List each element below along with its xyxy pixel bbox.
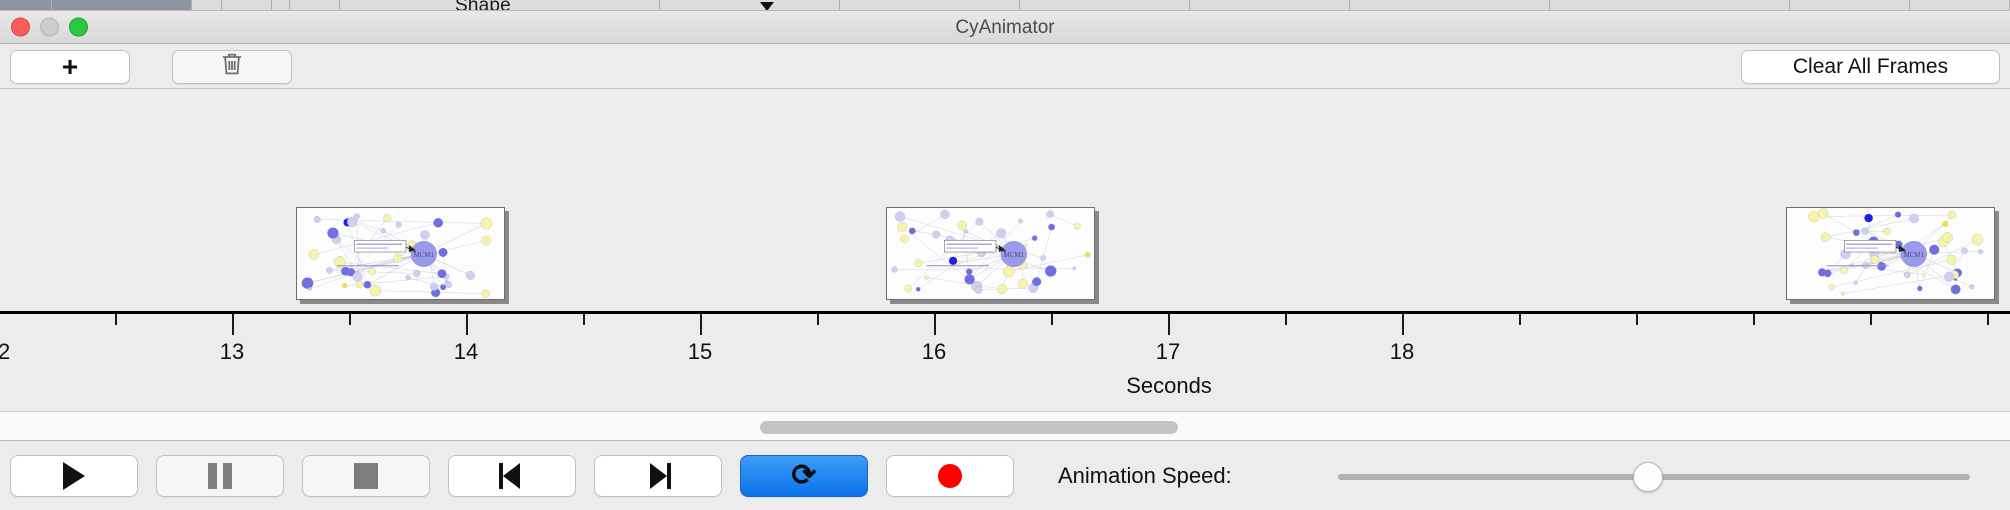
cyanimator-window: Shape CyAnimator + Clear All Frames	[0, 0, 2010, 510]
ruler-tick-label: 17	[1156, 339, 1180, 365]
background-window-strip: Shape	[0, 0, 2010, 11]
ruler-tick-minor	[1519, 314, 1521, 325]
skip-back-icon	[499, 463, 525, 489]
background-marker-icon	[760, 2, 774, 11]
ruler-tick-minor	[1987, 314, 1989, 325]
background-window-chunk	[1020, 0, 1190, 11]
network-graph-preview: MCM1	[887, 208, 1094, 299]
background-window-chunk	[0, 0, 52, 11]
loop-button[interactable]: ⟳	[740, 455, 868, 497]
stop-button[interactable]	[302, 455, 430, 497]
ruler-tick-minor	[1636, 314, 1638, 325]
ruler-tick-label: 18	[1390, 339, 1414, 365]
background-window-chunk	[222, 0, 272, 11]
clear-all-frames-label: Clear All Frames	[1793, 55, 1948, 79]
clear-all-frames-button[interactable]: Clear All Frames	[1741, 50, 2000, 84]
ruler-tick-label: 16	[922, 339, 946, 365]
svg-text:MCM1: MCM1	[414, 252, 435, 259]
ruler-tick-label: 12	[0, 339, 10, 365]
ruler-tick-major	[700, 314, 702, 335]
background-window-text: Shape	[455, 0, 511, 11]
background-window-chunk	[1790, 0, 1910, 11]
background-window-chunk	[1350, 0, 1550, 11]
network-graph-preview: MCM1	[1787, 208, 1994, 299]
ruler-tick-minor	[115, 314, 117, 325]
background-window-chunk	[660, 0, 840, 11]
stop-icon	[354, 463, 378, 489]
background-window-chunk	[192, 0, 222, 11]
svg-text:MCM1: MCM1	[1904, 252, 1925, 259]
skip-forward-icon	[645, 463, 671, 489]
ruler-tick-label: 14	[454, 339, 478, 365]
animation-speed-slider[interactable]	[1338, 474, 1970, 480]
axis-title: Seconds	[0, 373, 2010, 399]
keyframe-strip[interactable]: MCM1 MCM1 MCM1	[0, 89, 2010, 311]
scrollbar-thumb[interactable]	[760, 421, 1178, 434]
skip-to-end-button[interactable]	[594, 455, 722, 497]
svg-text:MCM1: MCM1	[1004, 252, 1025, 259]
record-button[interactable]	[886, 455, 1014, 497]
axis-title-label: Seconds	[1126, 373, 1212, 398]
pause-icon	[208, 463, 232, 489]
delete-frame-button[interactable]	[172, 50, 292, 84]
slider-knob[interactable]	[1633, 462, 1663, 492]
ruler-tick-major	[232, 314, 234, 335]
window-title: CyAnimator	[0, 11, 2010, 44]
ruler-tick-minor	[583, 314, 585, 325]
background-window-chunk	[1910, 0, 2010, 11]
background-window-chunk	[1550, 0, 1790, 11]
keyframe-thumbnail[interactable]: MCM1	[296, 207, 505, 300]
ruler-tick-minor	[1051, 314, 1053, 325]
pause-button[interactable]	[156, 455, 284, 497]
title-bar: CyAnimator	[0, 11, 2010, 44]
background-window-chunk	[340, 0, 470, 11]
ruler-tick-minor	[349, 314, 351, 325]
keyframe-thumbnail[interactable]: MCM1	[1786, 207, 1995, 300]
play-icon	[63, 462, 85, 490]
ruler-tick-minor	[1753, 314, 1755, 325]
background-window-chunk	[290, 0, 340, 11]
ruler-tick-minor	[1870, 314, 1872, 325]
loop-icon: ⟳	[791, 461, 816, 491]
record-icon	[938, 464, 962, 488]
background-window-chunk	[52, 0, 192, 11]
trash-icon	[220, 51, 244, 83]
ruler-tick-major	[1168, 314, 1170, 335]
skip-to-start-button[interactable]	[448, 455, 576, 497]
ruler-tick-major	[466, 314, 468, 335]
background-window-chunk	[840, 0, 1020, 11]
add-frame-button[interactable]: +	[10, 50, 130, 84]
ruler-tick-label: 15	[688, 339, 712, 365]
ruler-tick-minor	[817, 314, 819, 325]
horizontal-scrollbar[interactable]	[0, 411, 2010, 441]
ruler-tick-label: 13	[220, 339, 244, 365]
keyframe-thumbnail[interactable]: MCM1	[886, 207, 1095, 300]
background-window-chunk	[1190, 0, 1350, 11]
plus-icon: +	[62, 53, 78, 81]
ruler-tick-major	[1402, 314, 1404, 335]
ruler-tick-minor	[1285, 314, 1287, 325]
network-graph-preview: MCM1	[297, 208, 504, 299]
background-window-chunk	[272, 0, 290, 11]
time-ruler: 12131415161718 Seconds	[0, 311, 2010, 411]
playback-bar: ⟳ Animation Speed:	[0, 442, 2010, 510]
ruler-baseline	[0, 311, 2010, 314]
timeline-panel[interactable]: MCM1 MCM1 MCM1 12131415161718	[0, 89, 2010, 411]
play-button[interactable]	[10, 455, 138, 497]
ruler-tick-major	[934, 314, 936, 335]
toolbar: + Clear All Frames	[0, 44, 2010, 89]
animation-speed-label: Animation Speed:	[1058, 455, 1232, 497]
